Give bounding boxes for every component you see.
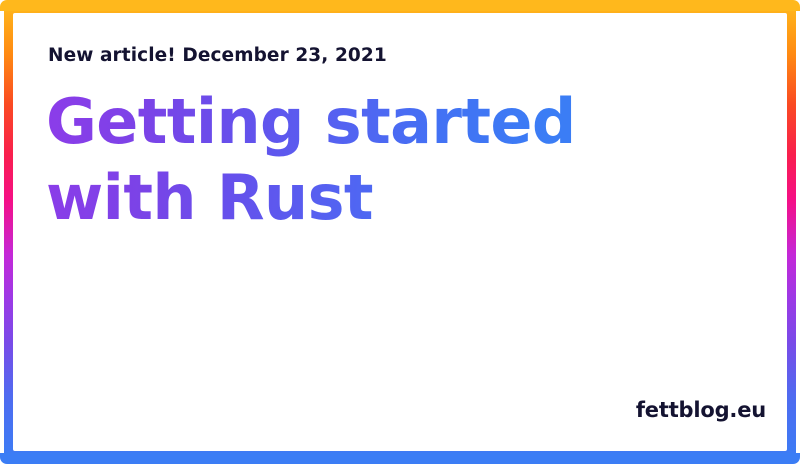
site-brand: fettblog.eu xyxy=(636,398,766,422)
card-content: New article! December 23, 2021 Getting s… xyxy=(0,0,800,464)
article-title-line-2: with Rust xyxy=(46,160,606,236)
article-title-line-1: Getting started xyxy=(46,84,606,160)
article-title: Getting started with Rust xyxy=(46,84,606,235)
social-share-card: New article! December 23, 2021 Getting s… xyxy=(0,0,800,464)
article-kicker: New article! December 23, 2021 xyxy=(48,45,387,66)
